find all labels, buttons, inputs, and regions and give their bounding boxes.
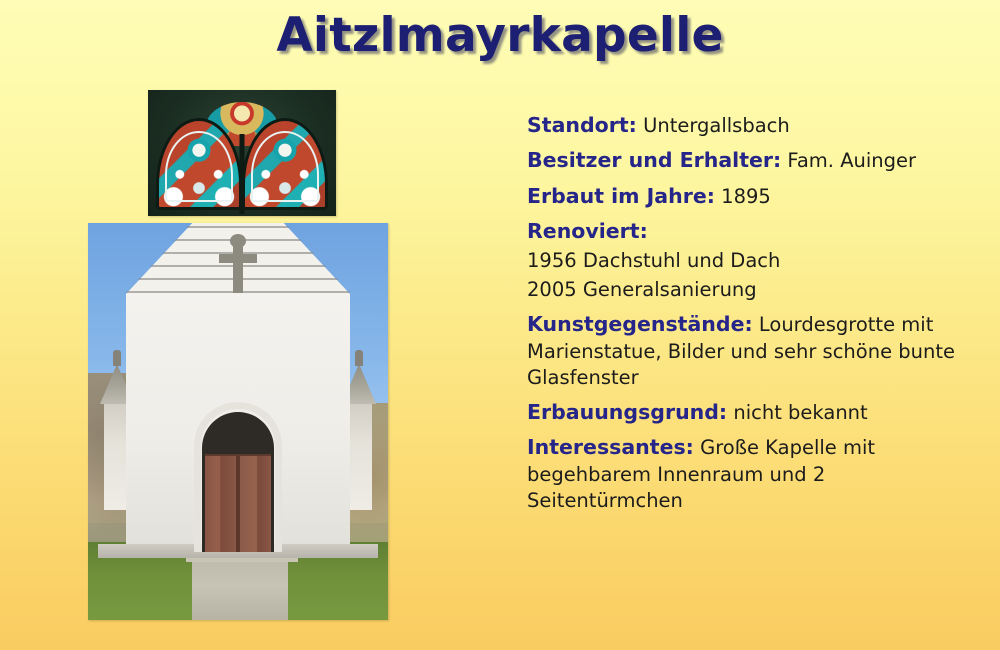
- window-mullion: [240, 134, 245, 214]
- wooden-entrance-door: [205, 454, 271, 552]
- info-value-erbaut: 1895: [721, 185, 771, 208]
- info-value-besitzer: Fam. Auinger: [787, 149, 916, 172]
- info-label-besitzer: Besitzer und Erhalter:: [527, 148, 781, 172]
- renovation-entry-2: 2005 Generalsanierung: [527, 277, 979, 303]
- info-row-kunstgegenstaende: Kunstgegenstände: Lourdesgrotte mit Mari…: [527, 311, 979, 391]
- info-row-standort: Standort: Untergallsbach: [527, 112, 979, 139]
- info-row-interessantes: Interessantes: Große Kapelle mit begehba…: [527, 434, 979, 514]
- info-label-erbaut: Erbaut im Jahre:: [527, 184, 715, 208]
- info-row-erbauungsgrund: Erbauungsgrund: nicht bekannt: [527, 399, 979, 426]
- renovation-entry-1: 1956 Dachstuhl und Dach: [527, 248, 979, 274]
- info-row-renoviert: Renoviert:: [527, 218, 979, 245]
- stone-cross-icon: [233, 241, 243, 293]
- page-title: Aitzlmayrkapelle: [0, 8, 1000, 63]
- chapel-info-block: Standort: Untergallsbach Besitzer und Er…: [527, 112, 979, 522]
- chapel-exterior-photo: [88, 223, 388, 620]
- info-label-erbauungsgrund: Erbauungsgrund:: [527, 400, 727, 424]
- presentation-slide: Aitzlmayrkapelle Stan: [0, 0, 1000, 650]
- info-label-kunstgegenstaende: Kunstgegenstände:: [527, 312, 753, 336]
- info-label-standort: Standort:: [527, 113, 637, 137]
- info-label-renoviert: Renoviert:: [527, 219, 648, 243]
- info-label-interessantes: Interessantes:: [527, 435, 694, 459]
- info-value-erbauungsgrund: nicht bekannt: [733, 401, 867, 424]
- info-row-besitzer: Besitzer und Erhalter: Fam. Auinger: [527, 147, 979, 174]
- info-row-erbaut: Erbaut im Jahre: 1895: [527, 183, 979, 210]
- stained-glass-window-photo: [148, 90, 336, 216]
- stained-glass-artwork: [148, 90, 336, 216]
- info-value-standort: Untergallsbach: [643, 114, 790, 137]
